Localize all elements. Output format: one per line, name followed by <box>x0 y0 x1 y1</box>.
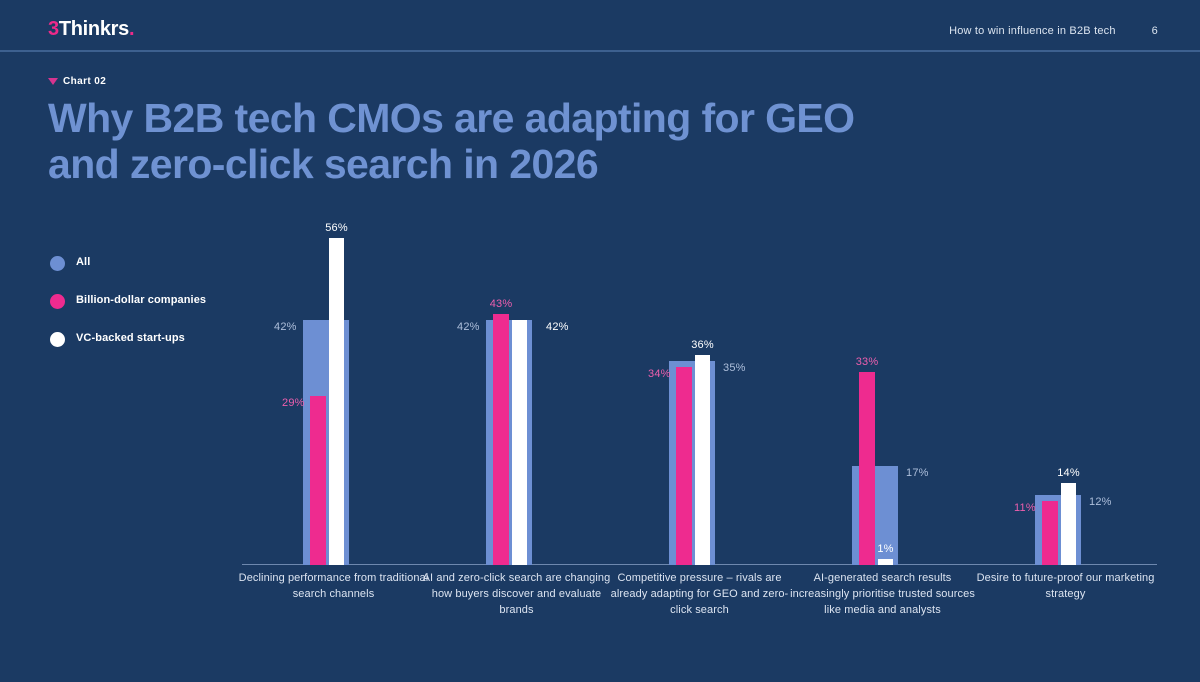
bar-vc[interactable] <box>878 559 893 565</box>
bar-group: 42%43%42%AI and zero-click search are ch… <box>425 215 608 565</box>
category-label: AI and zero-click search are changing ho… <box>420 571 613 619</box>
category-label: Competitive pressure – rivals are alread… <box>603 571 796 619</box>
bar-group-plot: 35%34%36% <box>608 215 791 565</box>
category-label: Desire to future-proof our marketing str… <box>969 571 1162 603</box>
header-divider <box>0 50 1200 52</box>
bar-value-label: 33% <box>853 356 881 368</box>
bar-value-label: 17% <box>906 467 929 479</box>
bar-value-label: 42% <box>274 321 297 333</box>
bar-value-label: 36% <box>689 339 717 351</box>
chart-eyebrow-label: Chart 02 <box>63 76 106 87</box>
bar-value-label: 1% <box>872 543 900 555</box>
legend-item-vc-backed[interactable]: VC-backed start-ups <box>50 331 220 347</box>
legend-label: All <box>76 255 90 270</box>
bar-group: 17%33%1%AI-generated search results incr… <box>791 215 974 565</box>
category-label: Declining performance from traditional s… <box>237 571 430 603</box>
chart-legend: All Billion-dollar companies VC-backed s… <box>50 255 220 369</box>
bar-group-plot: 42%29%56% <box>242 215 425 565</box>
bar-value-label: 34% <box>648 368 671 380</box>
bar-bill[interactable] <box>310 396 326 565</box>
header-meta: How to win influence in B2B tech 6 <box>949 25 1158 37</box>
bar-value-label: 35% <box>723 362 746 374</box>
bar-group-plot: 17%33%1% <box>791 215 974 565</box>
page-number: 6 <box>1152 25 1158 37</box>
bar-chart: 42%29%56%Declining performance from trad… <box>242 215 1157 565</box>
legend-item-all[interactable]: All <box>50 255 220 271</box>
bar-value-label: 14% <box>1055 467 1083 479</box>
bar-bill[interactable] <box>493 314 509 565</box>
bar-vc[interactable] <box>1061 483 1076 565</box>
legend-label: Billion-dollar companies <box>76 293 206 308</box>
bar-group: 35%34%36%Competitive pressure – rivals a… <box>608 215 791 565</box>
bar-value-label: 42% <box>546 321 569 333</box>
bar-value-label: 56% <box>323 222 351 234</box>
legend-item-billion-dollar[interactable]: Billion-dollar companies <box>50 293 220 309</box>
brand-logo: 3Thinkrs. <box>48 19 134 39</box>
legend-label: VC-backed start-ups <box>76 331 185 346</box>
logo-wordmark: Thinkrs <box>59 18 129 40</box>
bar-value-label: 29% <box>282 397 305 409</box>
legend-swatch-icon <box>50 332 65 347</box>
bar-group: 42%29%56%Declining performance from trad… <box>242 215 425 565</box>
bar-value-label: 42% <box>457 321 480 333</box>
bar-value-label: 43% <box>487 298 515 310</box>
bar-value-label: 11% <box>1014 502 1036 514</box>
logo-period: . <box>129 18 134 40</box>
document-title: How to win influence in B2B tech <box>949 25 1116 37</box>
slide-header: 3Thinkrs. How to win influence in B2B te… <box>0 0 1200 50</box>
bar-bill[interactable] <box>1042 501 1058 565</box>
bar-value-label: 12% <box>1089 496 1112 508</box>
slide-page: 3Thinkrs. How to win influence in B2B te… <box>0 0 1200 682</box>
bar-group-plot: 12%11%14% <box>974 215 1157 565</box>
chart-eyebrow: Chart 02 <box>48 76 106 87</box>
bar-bill[interactable] <box>676 367 692 565</box>
bar-bill[interactable] <box>859 372 875 565</box>
bar-vc[interactable] <box>329 238 344 565</box>
legend-swatch-icon <box>50 256 65 271</box>
triangle-marker-icon <box>48 78 58 85</box>
bar-vc[interactable] <box>512 320 527 565</box>
bar-vc[interactable] <box>695 355 710 565</box>
category-label: AI-generated search results increasingly… <box>786 571 979 619</box>
logo-numeral: 3 <box>48 18 59 40</box>
legend-swatch-icon <box>50 294 65 309</box>
bar-group-plot: 42%43%42% <box>425 215 608 565</box>
bar-group: 12%11%14%Desire to future-proof our mark… <box>974 215 1157 565</box>
page-title: Why B2B tech CMOs are adapting for GEO a… <box>48 96 878 188</box>
